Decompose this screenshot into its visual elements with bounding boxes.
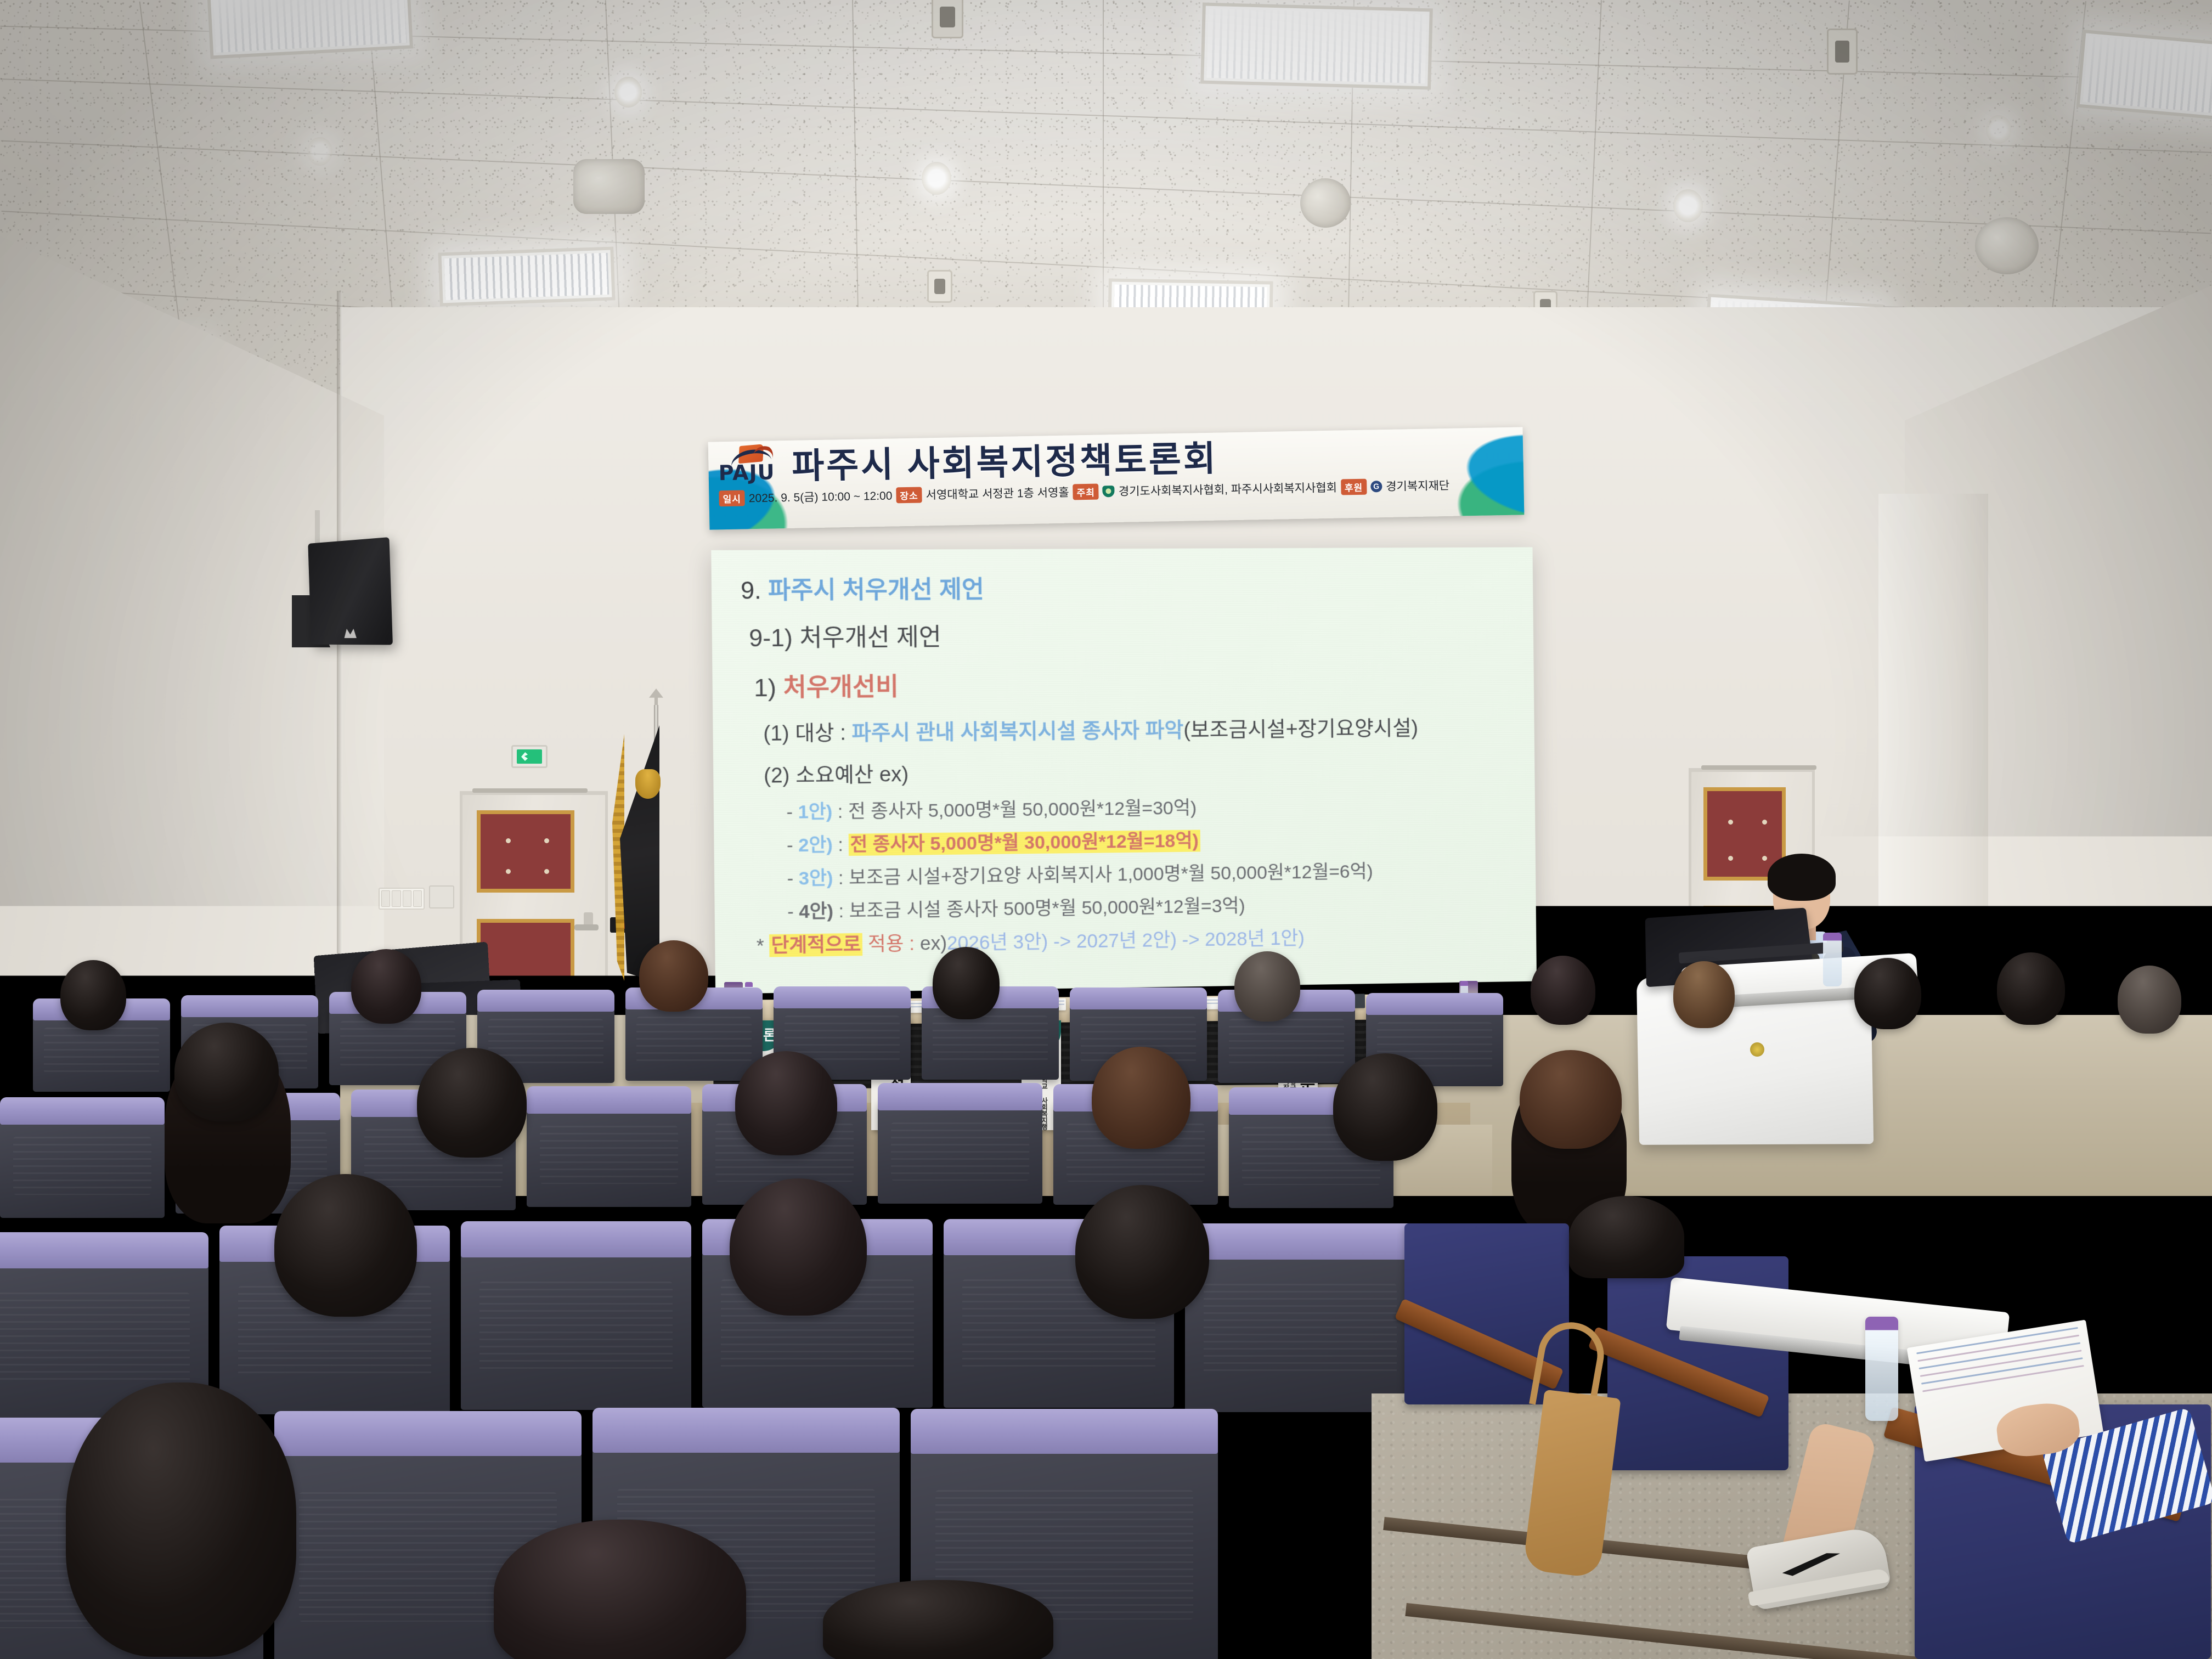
- seat-headrest[interactable]: [0, 1097, 165, 1125]
- audience-head: [1673, 961, 1735, 1028]
- audience-head: [1854, 958, 1921, 1029]
- slide-section: 1) 처우개선비: [742, 670, 1516, 700]
- lectern-water-bottle: [1823, 933, 1842, 986]
- slide-option-row: - 4안) : 보조금 시설 종사자 500명*월 50,000원*12월=3억…: [744, 893, 1518, 922]
- seat-back[interactable]: [527, 1103, 691, 1207]
- seat-headrest[interactable]: [477, 990, 614, 1012]
- banner-date-value: 2025. 9. 5(금) 10:00 ~ 12:00: [749, 487, 893, 506]
- audience-head: [174, 1023, 279, 1121]
- banner-chip-date: 일시: [719, 490, 745, 506]
- hvac-diffuser: [1975, 217, 2039, 274]
- slide-option-sep: :: [833, 901, 849, 922]
- seat-headrest[interactable]: [592, 1408, 900, 1453]
- slide-note-highlight: 단계적으로: [769, 933, 862, 957]
- audience-head: [1092, 1047, 1190, 1149]
- door-panel-upper: [477, 810, 574, 893]
- slide-option-row: - 2안) : 전 종사자 5,000명*월 30,000원*12월=18억): [743, 828, 1517, 855]
- seat-headrest[interactable]: [878, 1083, 1042, 1110]
- audience-head: [2118, 966, 2181, 1034]
- audience-head: [1531, 956, 1595, 1025]
- ceiling-troffer-light: [1200, 3, 1433, 90]
- exit-sign: [511, 745, 548, 768]
- seat-headrest[interactable]: [1070, 988, 1207, 1009]
- door-closer: [472, 788, 588, 793]
- slide-note-mid: 적용 :: [862, 933, 920, 955]
- slide-option-tag: 1안): [798, 802, 832, 823]
- seat-back[interactable]: [0, 1114, 165, 1218]
- audience-head-foreground: [66, 1383, 296, 1657]
- slide-target-paren: (보조금시설+장기요양시설): [1183, 717, 1418, 742]
- audience-head: [1075, 1185, 1209, 1319]
- slide-note-sequence: 2026년 3안) -> 2027년 2안) -> 2028년 1안): [947, 928, 1305, 954]
- banner-chip-host: 주최: [1073, 483, 1099, 500]
- projection-screen: 9. 파주시 처우개선 제언 9-1) 처우개선 제언 1) 처우개선비 (1)…: [711, 547, 1537, 994]
- event-banner: PAJU 파주시 사회복지정책토론회 일시 2025. 9. 5(금) 10:0…: [708, 427, 1525, 529]
- paju-logo: PAJU: [718, 444, 785, 486]
- banner-title: 파주시 사회복지정책토론회: [792, 441, 1218, 484]
- banner-place-value: 서영대학교 서정관 1층 서영홀: [926, 484, 1069, 503]
- banner-sponsor-value: 경기복지재단: [1386, 477, 1449, 494]
- ceiling-troffer-light: [2076, 30, 2212, 123]
- slide-option-sep: :: [833, 834, 849, 856]
- audience-head: [1569, 1196, 1684, 1278]
- sprinkler-head: [927, 270, 952, 303]
- audience-head: [1333, 1053, 1437, 1161]
- slide-option-tag: 3안): [799, 868, 833, 889]
- slide-option-text: 보조금 시설 종사자 500명*월 50,000원*12월=3억): [849, 895, 1245, 922]
- gyeonggi-foundation-icon: [1370, 481, 1382, 492]
- slide-target-highlight: 파주시 관내 사회복지시설 종사자 파악: [851, 719, 1183, 744]
- seat-headrest[interactable]: [774, 986, 911, 1008]
- lectern-emblem-icon: [1750, 1042, 1764, 1057]
- audience-head: [735, 1051, 837, 1155]
- door-closer: [1701, 765, 1816, 770]
- audience-head: [639, 940, 708, 1012]
- presenter-hair: [1768, 854, 1836, 899]
- exit-running-man-icon: [517, 749, 542, 764]
- light-switch-panel-secondary[interactable]: [429, 885, 454, 909]
- slide-option-text-highlighted: 전 종사자 5,000명*월 30,000원*12월=18억): [848, 830, 1200, 856]
- slide-option-sep: :: [832, 801, 848, 822]
- audience-head: [1520, 1050, 1622, 1149]
- audience-head: [351, 949, 421, 1024]
- audience-head: [730, 1178, 867, 1316]
- slide-target-label: (1) 대상 :: [763, 721, 846, 746]
- ceiling-downlight: [307, 137, 332, 166]
- audience-head: [933, 947, 1000, 1019]
- seat-headrest[interactable]: [274, 1411, 582, 1456]
- slide-note-ex: ex): [920, 933, 947, 955]
- seat-headrest[interactable]: [461, 1221, 691, 1257]
- hvac-diffuser: [573, 159, 645, 214]
- door-handle[interactable]: [574, 924, 599, 930]
- slide-surface: 9. 파주시 처우개선 제언 9-1) 처우개선 제언 1) 처우개선비 (1)…: [711, 547, 1537, 994]
- seat-headrest[interactable]: [1185, 1223, 1415, 1260]
- ceiling-downlight: [1986, 115, 2011, 144]
- seat-headrest[interactable]: [181, 995, 318, 1017]
- sprinkler-head: [1827, 29, 1858, 75]
- seat-headrest[interactable]: [1366, 993, 1503, 1015]
- slide-section-number: 1): [754, 673, 776, 702]
- ceiling-downlight: [614, 77, 642, 108]
- audience-head: [1854, 1185, 1975, 1273]
- seat-headrest[interactable]: [0, 1232, 208, 1268]
- slide-option-row: - 1안) : 전 종사자 5,000명*월 50,000원*12월=30억): [743, 795, 1517, 822]
- flag-tassel: [635, 769, 661, 799]
- slide-option-sep: :: [833, 867, 849, 889]
- slide-section-text: 처우개선비: [783, 673, 899, 702]
- slide-heading: 9. 파주시 처우개선 제언: [741, 575, 1515, 603]
- slide-note-star: *: [757, 935, 764, 957]
- audience-water-bottle: [1865, 1317, 1898, 1421]
- audience-head: [1234, 951, 1300, 1022]
- seat-back[interactable]: [625, 998, 763, 1081]
- seat-back[interactable]: [461, 1245, 691, 1410]
- slide-option-text: 전 종사자 5,000명*월 50,000원*12월=30억): [848, 798, 1197, 822]
- banner-chip-sponsor: 후원: [1341, 478, 1367, 495]
- slide-target-row: (1) 대상 : 파주시 관내 사회복지시설 종사자 파악(보조금시설+장기요양…: [742, 717, 1516, 744]
- audience-head-foreground: [494, 1520, 746, 1659]
- seat-headrest[interactable]: [911, 1409, 1218, 1454]
- slide-option-row: - 3안) : 보조금 시설+장기요양 사회복지사 1,000명*월 50,00…: [743, 860, 1517, 889]
- slide-heading-text: 파주시 처우개선 제언: [768, 576, 984, 604]
- seat-headrest[interactable]: [527, 1086, 691, 1114]
- audience-head-foreground: [823, 1580, 1053, 1659]
- ceiling-downlight: [1673, 189, 1703, 222]
- slide-option-tag: 4안): [799, 901, 833, 922]
- light-switch-panel[interactable]: [379, 888, 425, 910]
- hvac-diffuser: [1300, 178, 1351, 228]
- wall-speaker: [308, 537, 393, 645]
- slide-option-tag: 2안): [798, 834, 833, 856]
- seat-back[interactable]: [1185, 1248, 1415, 1412]
- audience-head: [274, 1174, 417, 1317]
- slide-subheading: 9-1) 처우개선 제언: [741, 622, 1515, 651]
- banner-host-value: 경기도사회복지사협회, 파주시사회복지사협회: [1119, 479, 1338, 499]
- sprinkler-head: [932, 0, 963, 38]
- ceiling-troffer-light: [438, 246, 615, 306]
- banner-chip-place: 장소: [896, 487, 922, 503]
- auditorium-scene: PAJU 파주시 사회복지정책토론회 일시 2025. 9. 5(금) 10:0…: [0, 0, 2212, 1659]
- slide-budget-label: (2) 소요예산 ex): [742, 758, 1516, 787]
- slide-heading-number: 9.: [741, 577, 761, 605]
- ceiling-downlight: [922, 162, 951, 195]
- audience-head: [417, 1048, 527, 1158]
- seat-back[interactable]: [878, 1099, 1042, 1204]
- paju-logo-text: PAJU: [718, 460, 775, 485]
- slide-note-row: * 단계적으로 적용 : ex)2026년 3안) -> 2027년 2안) -…: [744, 926, 1518, 956]
- slide-option-text: 보조금 시설+장기요양 사회복지사 1,000명*월 50,000원*12월=6…: [849, 861, 1373, 889]
- association-mark-icon: [1103, 486, 1115, 497]
- audience-head: [60, 960, 126, 1030]
- audience-head: [1997, 952, 2065, 1025]
